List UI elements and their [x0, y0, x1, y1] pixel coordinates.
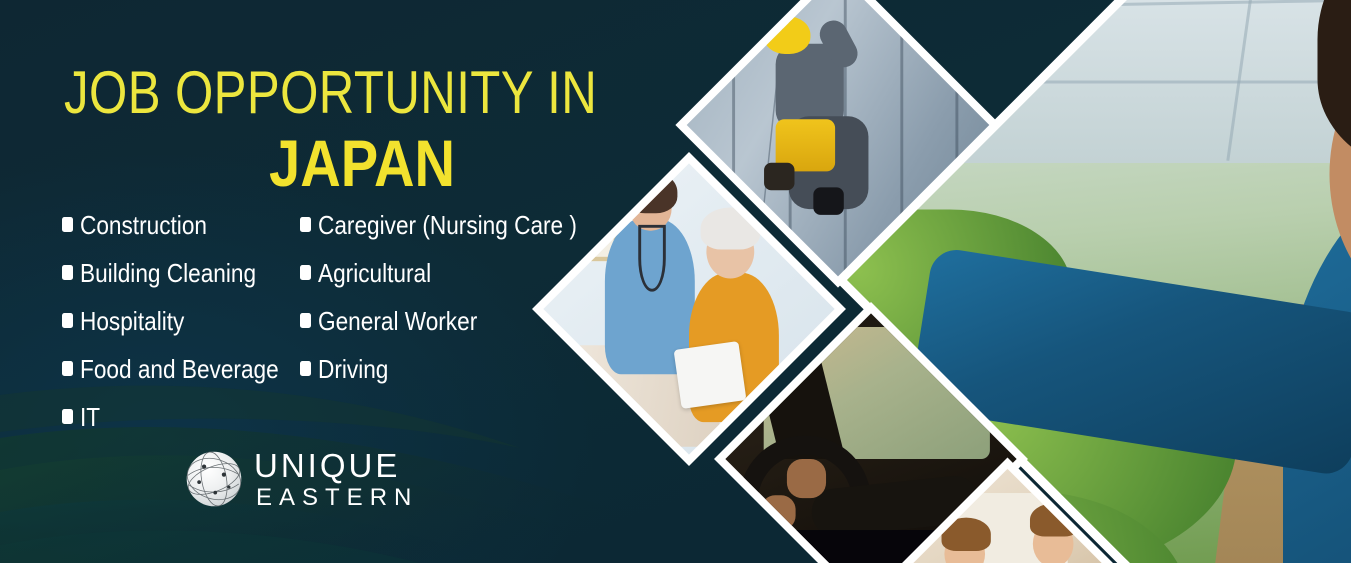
company-logo: UNIQUE EASTERN — [183, 447, 418, 511]
list-item: Agricultural — [300, 256, 560, 304]
headline-line-1: JOB OPPORTUNITY IN — [64, 62, 490, 124]
square-bullet-icon — [300, 217, 311, 232]
list-item: Building Cleaning — [62, 256, 300, 304]
job-label: Building Cleaning — [80, 256, 256, 290]
square-bullet-icon — [62, 313, 73, 328]
job-label: Hospitality — [80, 304, 184, 338]
list-item: IT — [62, 400, 300, 448]
globe-network-icon — [183, 448, 245, 510]
logo-primary-text: UNIQUE — [254, 449, 418, 482]
job-categories-list: Construction Building Cleaning Hospitali… — [62, 208, 560, 448]
list-item: Driving — [300, 352, 560, 400]
job-label: Caregiver (Nursing Care ) — [318, 208, 577, 242]
page-title: JOB OPPORTUNITY IN JAPAN — [64, 62, 584, 196]
job-column-right: Caregiver (Nursing Care ) Agricultural G… — [300, 208, 560, 448]
list-item: Hospitality — [62, 304, 300, 352]
list-item: General Worker — [300, 304, 560, 352]
job-label: Food and Beverage — [80, 352, 279, 386]
headline-line-2: JAPAN — [269, 130, 537, 196]
square-bullet-icon — [300, 313, 311, 328]
list-item: Food and Beverage — [62, 352, 300, 400]
list-item: Caregiver (Nursing Care ) — [300, 208, 560, 256]
text-content-column: JOB OPPORTUNITY IN JAPAN Construction Bu… — [0, 0, 600, 563]
job-label: IT — [80, 400, 100, 434]
square-bullet-icon — [62, 217, 73, 232]
job-label: Construction — [80, 208, 207, 242]
job-column-left: Construction Building Cleaning Hospitali… — [62, 208, 300, 448]
list-item: Construction — [62, 208, 300, 256]
logo-secondary-text: EASTERN — [256, 485, 418, 511]
square-bullet-icon — [62, 265, 73, 280]
job-opportunity-banner: JOB OPPORTUNITY IN JAPAN Construction Bu… — [0, 0, 1351, 563]
job-label: General Worker — [318, 304, 477, 338]
square-bullet-icon — [300, 361, 311, 376]
square-bullet-icon — [62, 409, 73, 424]
square-bullet-icon — [300, 265, 311, 280]
square-bullet-icon — [62, 361, 73, 376]
job-label: Agricultural — [318, 256, 431, 290]
job-label: Driving — [318, 352, 388, 386]
